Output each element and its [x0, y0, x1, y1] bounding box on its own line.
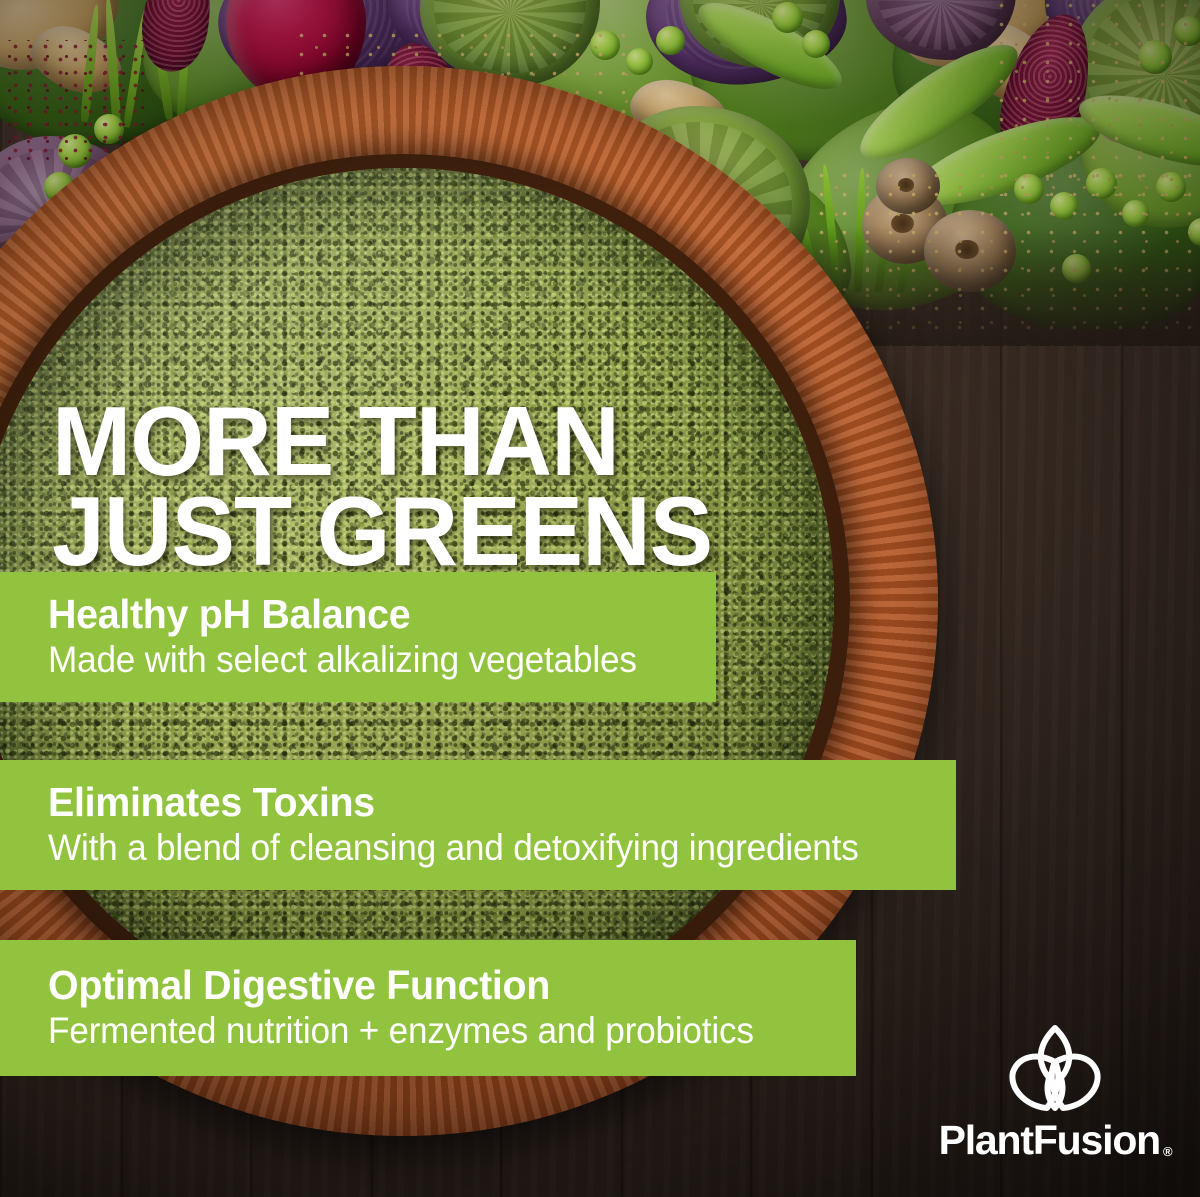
brand-logo: PlantFusion ® [930, 1022, 1180, 1172]
benefit-subtitle: Made with select alkalizing vegetables [48, 639, 658, 680]
brand-wordmark: PlantFusion ® [939, 1120, 1172, 1161]
benefit-banner-eliminates-toxins: Eliminates Toxins With a blend of cleans… [0, 760, 956, 890]
headline-line-2: JUST GREENS [52, 486, 857, 576]
headline-line-1: MORE THAN [52, 396, 857, 486]
brand-name: PlantFusion [939, 1120, 1160, 1161]
benefit-title: Optimal Digestive Function [48, 964, 799, 1007]
benefit-subtitle: With a blend of cleansing and detoxifyin… [48, 827, 886, 868]
page-title: MORE THAN JUST GREENS [52, 396, 857, 576]
benefit-title: Eliminates Toxins [48, 781, 895, 824]
registered-trademark-symbol: ® [1163, 1145, 1171, 1158]
benefit-banner-optimal-digestive-function: Optimal Digestive Function Fermented nut… [0, 940, 856, 1076]
lotus-leaf-icon [1003, 1022, 1107, 1114]
product-benefits-graphic: MORE THAN JUST GREENS Healthy pH Balance… [0, 0, 1200, 1197]
benefit-subtitle: Fermented nutrition + enzymes and probio… [48, 1010, 791, 1051]
benefit-banner-healthy-ph-balance: Healthy pH Balance Made with select alka… [0, 572, 716, 702]
benefit-title: Healthy pH Balance [48, 593, 664, 636]
